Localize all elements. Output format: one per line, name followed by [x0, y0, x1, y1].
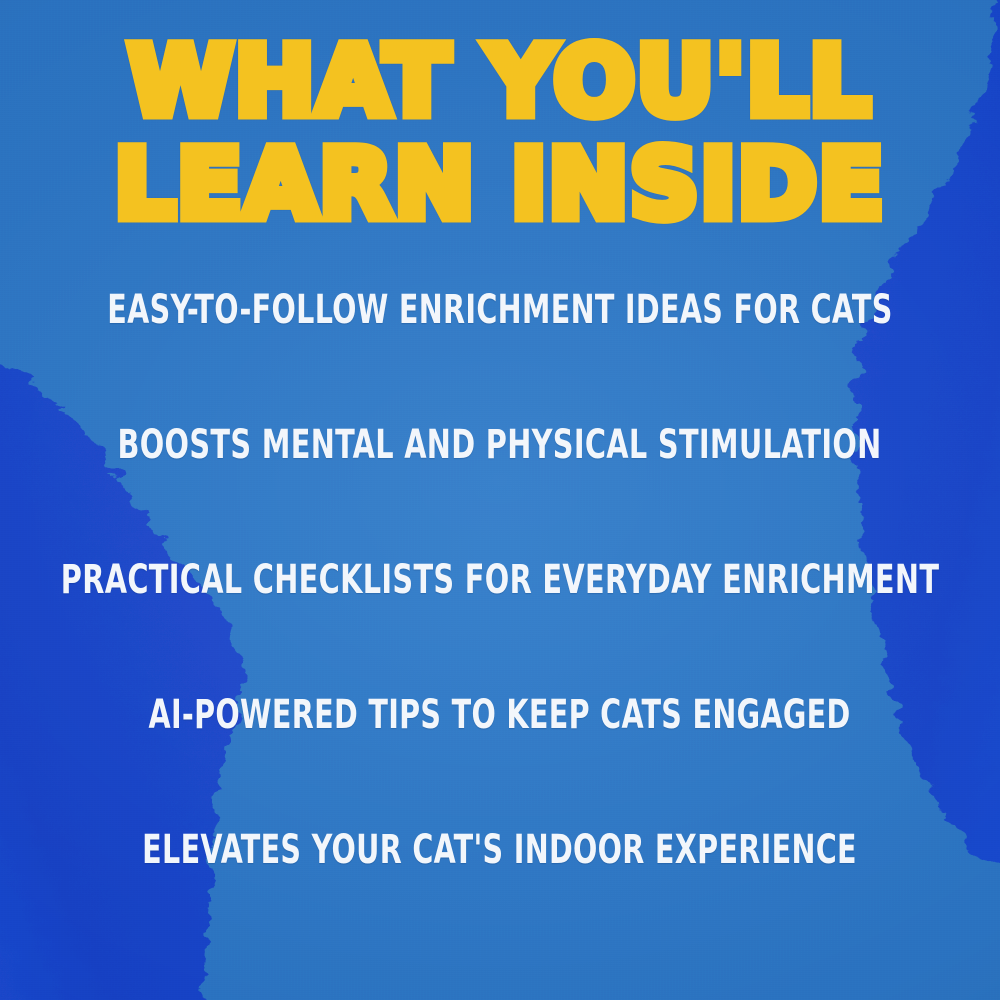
list-item: PRACTICAL CHECKLISTS FOR EVERYDAY ENRICH…	[0, 560, 1000, 695]
list-item: ELEVATES YOUR CAT'S INDOOR EXPERIENCE	[50, 830, 949, 965]
benefit-text-1: EASY-TO-FOLLOW ENRICHMENT IDEAS FOR CATS	[107, 290, 892, 330]
poster-content: WHAT YOU'LL LEARN INSIDE EASY-TO-FOLLOW …	[0, 0, 1000, 1000]
promo-poster: WHAT YOU'LL LEARN INSIDE EASY-TO-FOLLOW …	[0, 0, 1000, 1000]
benefits-list: EASY-TO-FOLLOW ENRICHMENT IDEAS FOR CATS…	[0, 290, 1000, 965]
headline-line-2: LEARN INSIDE	[0, 141, 1000, 230]
list-item: BOOSTS MENTAL AND PHYSICAL STIMULATION	[22, 425, 977, 560]
benefit-text-2: BOOSTS MENTAL AND PHYSICAL STIMULATION	[118, 425, 882, 465]
benefit-text-5: ELEVATES YOUR CAT'S INDOOR EXPERIENCE	[143, 830, 858, 870]
list-item: AI-POWERED TIPS TO KEEP CATS ENGAGED	[58, 695, 941, 830]
benefit-text-3: PRACTICAL CHECKLISTS FOR EVERYDAY ENRICH…	[61, 560, 939, 600]
page-title: WHAT YOU'LL LEARN INSIDE	[0, 38, 1000, 231]
headline-line-1: WHAT YOU'LL	[0, 38, 1000, 127]
benefit-text-4: AI-POWERED TIPS TO KEEP CATS ENGAGED	[149, 695, 851, 735]
list-item: EASY-TO-FOLLOW ENRICHMENT IDEAS FOR CATS	[6, 290, 994, 425]
